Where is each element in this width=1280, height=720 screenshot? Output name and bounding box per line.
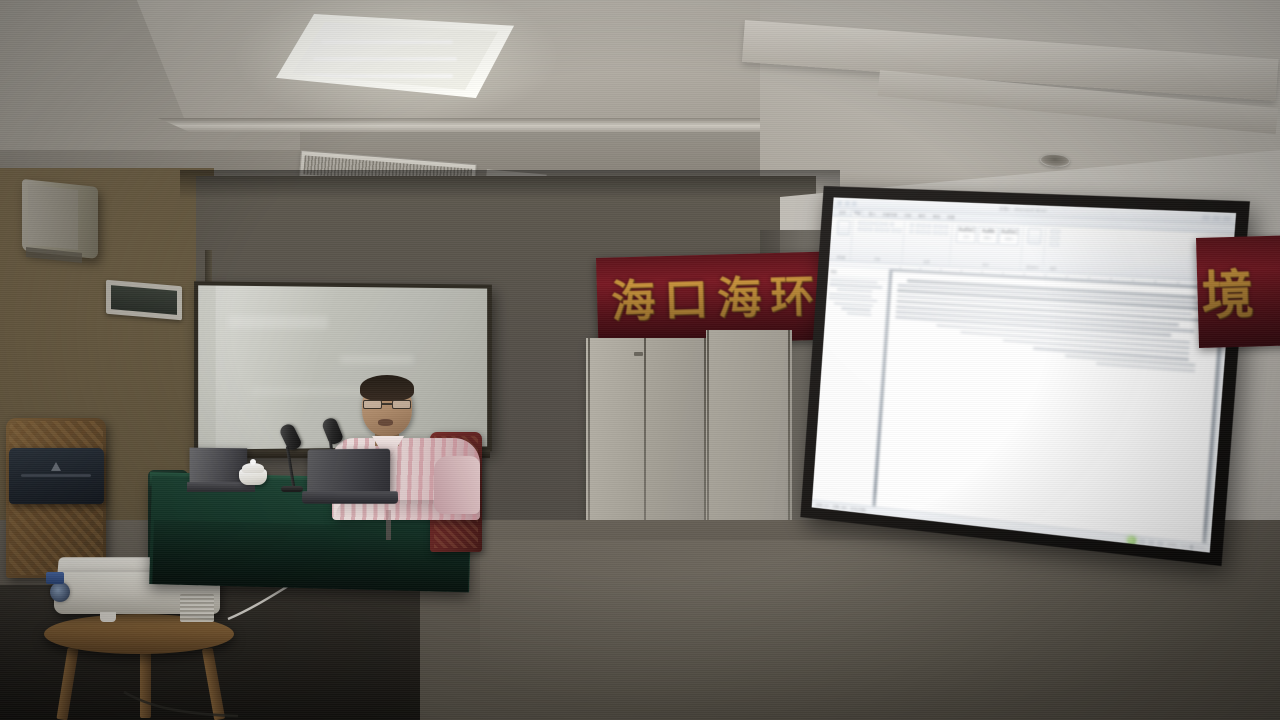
ribbon-group-font[interactable]: 字体 <box>853 219 906 264</box>
style-name: 标题 1 <box>983 236 992 241</box>
language-indicator[interactable]: 中文(中国) <box>850 506 866 513</box>
subscript-icon[interactable] <box>880 227 885 232</box>
style-preview-text: AaBbC <box>958 228 975 234</box>
page-view-icon[interactable] <box>1140 539 1146 544</box>
shrink-font-icon[interactable] <box>889 222 894 227</box>
reading-view-icon[interactable] <box>1149 540 1155 545</box>
borders-icon[interactable] <box>944 230 949 235</box>
change-styles-button[interactable] <box>1027 228 1042 244</box>
align-center-icon[interactable] <box>915 229 920 234</box>
navigation-pane-header: 导航 <box>830 269 887 280</box>
text-highlight-icon[interactable] <box>891 228 896 233</box>
quick-access-toolbar[interactable] <box>837 200 857 206</box>
superscript-icon[interactable] <box>885 227 890 232</box>
tab-mailings[interactable]: 邮件 <box>917 214 928 220</box>
close-button[interactable] <box>1223 215 1232 221</box>
ribbon-group-styles[interactable]: AaBbC 正文 AaBb 标题 1 AaBbC 标题 2 <box>952 223 1024 270</box>
cable <box>122 688 242 720</box>
web-view-icon[interactable] <box>1158 541 1164 546</box>
underline-icon[interactable] <box>868 227 873 232</box>
style-preview-text: AaBbC <box>1001 230 1019 236</box>
font-name-combo[interactable] <box>858 220 873 225</box>
replace-button[interactable] <box>1050 235 1060 240</box>
style-heading-2[interactable]: AaBbC 标题 2 <box>999 226 1020 245</box>
wall-vent-icon <box>106 280 182 321</box>
change-styles-group[interactable]: 更改样式 <box>1023 226 1047 271</box>
sort-icon[interactable] <box>938 224 943 229</box>
ribbon-group-paragraph[interactable]: 段落 <box>904 221 952 266</box>
minimize-button[interactable] <box>1202 214 1210 220</box>
projection-screen-surface: 文档1 - Microsoft Word 文件 开始 插入 页面布局 <box>812 197 1237 552</box>
font-color-icon[interactable] <box>897 228 902 233</box>
navigation-item[interactable] <box>837 288 873 292</box>
style-gallery[interactable]: AaBbC 正文 AaBb 标题 1 AaBbC 标题 2 <box>956 225 1020 246</box>
bullets-icon[interactable] <box>910 222 915 227</box>
show-marks-icon[interactable] <box>944 224 949 229</box>
find-button[interactable] <box>1051 229 1061 234</box>
numbering-icon[interactable] <box>915 223 920 228</box>
navigation-item[interactable] <box>847 312 872 316</box>
document-page[interactable] <box>876 271 1222 543</box>
paste-button[interactable] <box>836 219 850 235</box>
tab-insert[interactable]: 插入 <box>867 212 877 217</box>
undo-icon[interactable] <box>844 200 849 205</box>
tab-view[interactable]: 视图 <box>945 215 956 221</box>
strikethrough-icon[interactable] <box>874 227 879 232</box>
grow-font-icon[interactable] <box>884 221 889 226</box>
bold-icon[interactable] <box>857 226 862 231</box>
style-name: 标题 2 <box>1005 237 1014 242</box>
tab-file[interactable]: 文件 <box>837 211 847 216</box>
tab-home[interactable]: 开始 <box>851 210 863 217</box>
projector-lens-icon <box>50 582 70 602</box>
font-size-combo[interactable] <box>874 221 883 226</box>
ribbon-group-clipboard[interactable]: 剪贴板 <box>832 218 854 261</box>
save-icon[interactable] <box>837 200 842 205</box>
laptop-icon <box>306 449 392 505</box>
word-body: 导航 <box>812 266 1230 544</box>
style-normal[interactable]: AaBbC 正文 <box>956 225 977 244</box>
multilevel-list-icon[interactable] <box>921 223 926 228</box>
window-title: 文档1 - Microsoft Word <box>999 206 1047 214</box>
decrease-indent-icon[interactable] <box>927 223 932 228</box>
event-banner-right-segment: 境 <box>1196 235 1280 348</box>
zoom-slider[interactable] <box>1180 545 1205 549</box>
wall-shadow <box>180 170 840 200</box>
align-right-icon[interactable] <box>921 229 926 234</box>
zoom-level[interactable]: 100% <box>1167 542 1177 547</box>
table-shadow <box>152 520 470 592</box>
justify-icon[interactable] <box>926 229 931 234</box>
tab-review[interactable]: 审阅 <box>931 215 942 221</box>
ribbon-group-label: 编辑 <box>1048 266 1058 271</box>
glasses-icon <box>363 400 411 409</box>
tab-references[interactable]: 引用 <box>902 213 913 219</box>
word-count[interactable]: 字数: 480 <box>832 504 846 511</box>
window-controls[interactable] <box>1202 214 1231 221</box>
projection-screen: 文档1 - Microsoft Word 文件 开始 插入 页面布局 <box>800 186 1250 566</box>
change-styles-label: 更改样式 <box>1026 265 1040 270</box>
ribbon-group-label: 段落 <box>907 259 947 265</box>
navigation-item[interactable] <box>834 302 873 307</box>
style-preview-text: AaBb <box>981 229 995 235</box>
italic-icon[interactable] <box>863 226 868 231</box>
ribbon-group-label: 剪贴板 <box>835 255 848 260</box>
projection-screen-frame: 文档1 - Microsoft Word 文件 开始 插入 页面布局 <box>800 186 1250 566</box>
style-name: 正文 <box>963 235 969 239</box>
projector-cable-port <box>46 572 64 584</box>
restore-button[interactable] <box>1212 215 1221 221</box>
floor-highlight <box>480 540 1280 720</box>
photo-scene: 海口海环院环 境 <box>0 0 1280 720</box>
align-left-icon[interactable] <box>909 229 914 234</box>
redo-icon[interactable] <box>852 201 857 206</box>
navigation-item[interactable] <box>841 307 870 311</box>
line-spacing-icon[interactable] <box>932 230 937 235</box>
word-window: 文档1 - Microsoft Word 文件 开始 插入 页面布局 <box>812 197 1237 552</box>
green-status-badge[interactable] <box>1127 535 1137 545</box>
ribbon-group-editing[interactable]: 编辑 <box>1045 227 1063 272</box>
style-heading-1[interactable]: AaBb 标题 1 <box>977 225 998 244</box>
shading-icon[interactable] <box>938 230 943 235</box>
tab-page-layout[interactable]: 页面布局 <box>881 213 899 219</box>
bag-icon <box>9 448 104 504</box>
teacup-icon <box>239 461 267 485</box>
increase-indent-icon[interactable] <box>933 223 938 228</box>
select-button[interactable] <box>1050 241 1060 246</box>
page-indicator[interactable]: 页面: 1/2 <box>816 502 829 508</box>
